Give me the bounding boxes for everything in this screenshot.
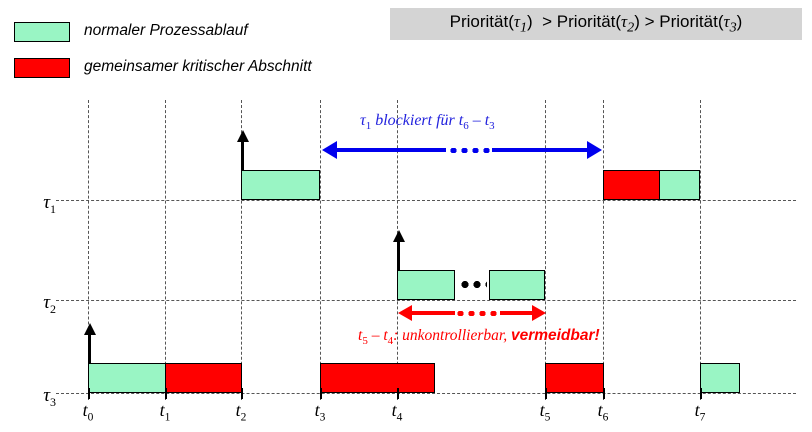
block-tau3-critical-t3-mid (320, 363, 435, 393)
tau-symbol-1: τ1 (514, 12, 527, 31)
tick-mark-t4 (397, 388, 399, 399)
legend-label-normal-execution: normaler Prozessablauf (84, 22, 248, 40)
block-tau2-normal-second (489, 270, 545, 300)
tick-label-t2: t2 (221, 400, 261, 424)
gridline-t3 (320, 100, 321, 400)
red-arrow-line-left (411, 311, 455, 315)
row-label-tau2: τ2 (22, 292, 56, 317)
gridline-t6 (603, 100, 604, 400)
tau-symbol-2: τ2 (621, 12, 634, 31)
red-arrow-dots (455, 311, 500, 316)
legend-label-critical-section: gemeinsamer kritischer Abschnitt (84, 58, 312, 76)
gridline-t1 (165, 100, 166, 400)
tick-label-t1: t1 (145, 400, 185, 424)
row-label-tau3: τ3 (22, 385, 56, 410)
blue-arrow-line-right (492, 148, 587, 152)
priority-order-box: Priorität(τ1) > Priorität(τ2) > Prioritä… (390, 8, 802, 40)
gridline-t5 (545, 100, 546, 400)
tick-mark-t1 (165, 388, 167, 399)
red-arrow-line-right (500, 311, 532, 315)
block-tau3-normal-t0-t1 (88, 363, 166, 393)
tick-mark-t5 (545, 388, 547, 399)
tick-label-t6: t6 (583, 400, 623, 424)
blue-arrow-head-left (322, 141, 337, 159)
block-tau3-critical-t5-t6 (545, 363, 604, 393)
gridline-t7 (700, 100, 701, 400)
row-label-tau1: τ1 (22, 192, 56, 217)
tick-mark-t6 (603, 388, 605, 399)
red-ann-emphasis: vermeidbar! (511, 327, 600, 344)
tick-mark-t7 (700, 388, 702, 399)
priority-text: Priorität(τ1) > Priorität(τ2) > Prioritä… (450, 12, 743, 36)
block-tau1-critical-t6 (603, 170, 660, 200)
timeline-chart: τ1 τ2 τ3 t0 t1 t2 t3 t4 t5 t6 t7 (0, 100, 812, 432)
tick-mark-t0 (88, 388, 90, 399)
baseline-tau1 (56, 200, 796, 201)
block-tau3-normal-t7 (700, 363, 740, 393)
red-annotation-label: t5 – t4: unkontrollierbar, vermeidbar! (358, 327, 600, 347)
block-tau1-normal-t2-t3 (241, 170, 320, 200)
tick-label-t4: t4 (377, 400, 417, 424)
red-arrow-head-left (398, 305, 412, 321)
tau-symbol-3: τ3 (724, 12, 737, 31)
blue-ann-dash: – t (469, 112, 489, 129)
blue-arrow-dots (448, 148, 492, 153)
tick-label-t0: t0 (68, 400, 108, 424)
blue-ann-tau: τ1 (360, 112, 371, 129)
red-ann-dash: – t (368, 327, 388, 344)
tick-label-t3: t3 (300, 400, 340, 424)
red-arrow-head-right (532, 305, 546, 321)
tick-label-t5: t5 (525, 400, 565, 424)
blue-arrow-head-right (587, 141, 602, 159)
tick-mark-t3 (320, 388, 322, 399)
red-ann-body: : unkontrollierbar, (393, 327, 511, 344)
baseline-tau3 (56, 393, 796, 394)
baseline-tau2 (56, 300, 796, 301)
dotted-gap-tau2 (459, 281, 487, 288)
tick-label-t7: t7 (680, 400, 720, 424)
blue-annotation-label: τ1 blockiert für t6 – t3 (360, 112, 495, 132)
legend-swatch-critical-section (14, 58, 70, 78)
block-tau2-normal-first (397, 270, 455, 300)
tick-mark-t2 (241, 388, 243, 399)
legend-swatch-normal-execution (14, 22, 70, 42)
blue-ann-sub-b: 3 (489, 120, 495, 132)
blue-ann-mid: blockiert für t (371, 112, 463, 129)
block-tau3-critical-t1-t2 (165, 363, 242, 393)
blue-arrow-line-left (336, 148, 446, 152)
block-tau1-normal-after-t6 (659, 170, 700, 200)
